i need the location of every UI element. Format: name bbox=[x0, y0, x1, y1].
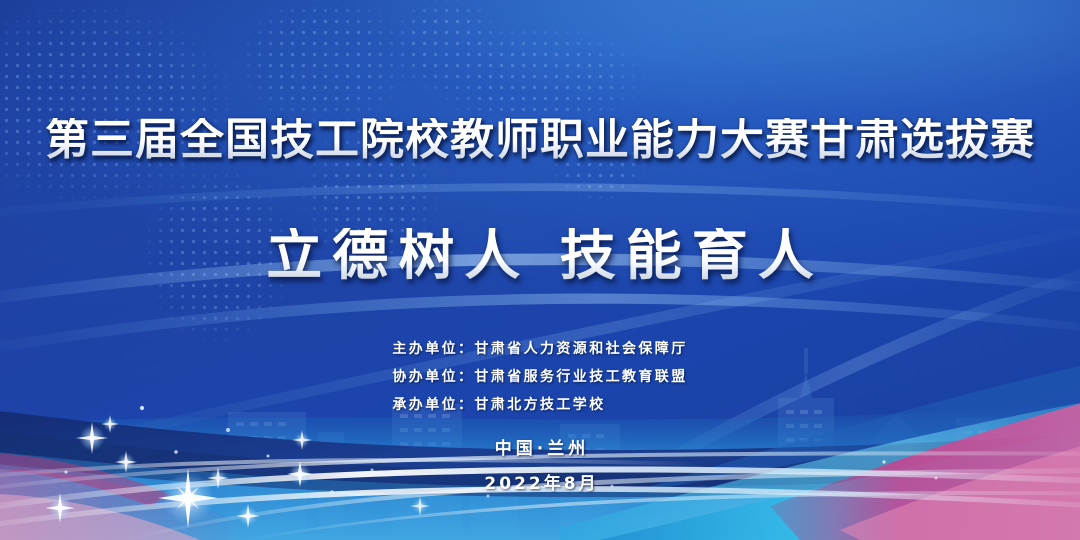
organizer-undertaker-line: 承办单位：甘肃北方技工学校 bbox=[392, 391, 687, 419]
page-title: 第三届全国技工院校教师职业能力大赛甘肃选拔赛 bbox=[0, 118, 1080, 162]
organizer-coorganizer-line: 协办单位：甘肃省服务行业技工教育联盟 bbox=[392, 363, 687, 391]
venue-text: 中国·兰州 bbox=[0, 441, 1080, 458]
date-text: 2022年8月 bbox=[0, 476, 1080, 493]
event-banner: 第三届全国技工院校教师职业能力大赛甘肃选拔赛 立德树人 技能育人 主办单位：甘肃… bbox=[0, 0, 1080, 540]
slogan-subtitle: 立德树人 技能育人 bbox=[0, 228, 1080, 284]
organizer-block: 主办单位：甘肃省人力资源和社会保障厅 协办单位：甘肃省服务行业技工教育联盟 承办… bbox=[0, 335, 1080, 419]
organizer-host-line: 主办单位：甘肃省人力资源和社会保障厅 bbox=[392, 335, 687, 363]
